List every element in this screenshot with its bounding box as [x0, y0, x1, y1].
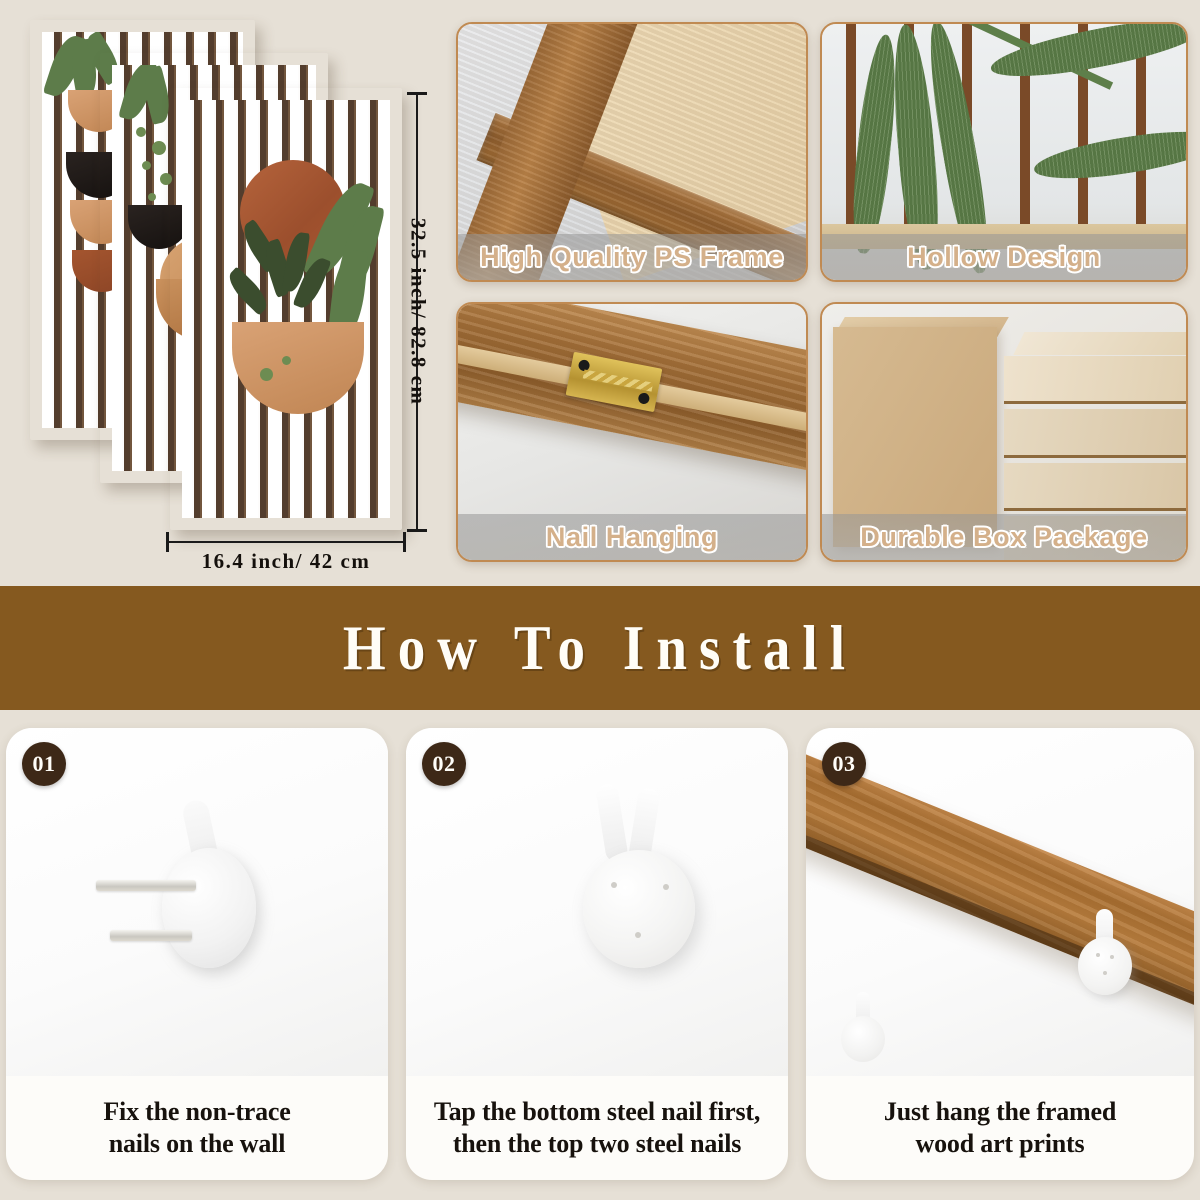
step-caption-text: Tap the bottom steel nail first,then the… [434, 1096, 760, 1159]
wall-hook [841, 992, 885, 1062]
width-dimension-line [166, 541, 406, 543]
step-caption: Tap the bottom steel nail first,then the… [406, 1076, 788, 1180]
feature-caption-bar: Hollow Design [822, 234, 1186, 280]
cardboard-box [1004, 356, 1188, 404]
hook-disc [841, 1016, 885, 1062]
box-lid [1014, 332, 1188, 355]
height-dimension-label-wrap: 32.5 inch/ 82.8 cm [405, 92, 431, 532]
framed-print-front [170, 88, 402, 530]
step-number-badge: 01 [22, 742, 66, 786]
install-step-03[interactable]: 03 Just hang the framedwo [806, 728, 1194, 1180]
feature-caption-text: Durable Box Package [860, 522, 1148, 553]
wall-hook [1078, 909, 1132, 995]
pin-hole [635, 932, 641, 938]
fern-leaf [223, 266, 273, 315]
install-step-02[interactable]: 02 Tap the bottom steel nail first,then … [406, 728, 788, 1180]
dot-shape [282, 356, 291, 365]
install-steps-section: 01 Fix the non-tracenails on the wall 02 [0, 710, 1200, 1200]
height-dimension-label: 32.5 inch/ 82.8 cm [406, 218, 431, 405]
white-nail-hook-front-icon [559, 784, 709, 1004]
feature-panel-package[interactable]: Durable Box Package [820, 302, 1188, 562]
steel-pin [110, 930, 192, 941]
step-number-badge: 03 [822, 742, 866, 786]
hook-disc [583, 850, 695, 968]
pin-hole [611, 882, 617, 888]
steel-pin [96, 880, 196, 891]
how-to-install-banner: How To Install [0, 586, 1200, 710]
feature-caption-bar: Durable Box Package [822, 514, 1186, 560]
wood-frame-on-hook-icon [806, 745, 1194, 1015]
dot-shape [152, 141, 166, 155]
feature-panel-frame[interactable]: High Quality PS Frame [456, 22, 808, 282]
dot-shape [142, 161, 151, 170]
hook-head [162, 848, 256, 968]
feature-panel-nail[interactable]: Nail Hanging [456, 302, 808, 562]
pin-hole [1103, 971, 1107, 975]
step-photo: 03 [806, 728, 1194, 1076]
cardboard-box [1004, 409, 1188, 457]
top-section: 32.5 inch/ 82.8 cm 16.4 inch/ 42 cm High… [0, 0, 1200, 586]
feature-caption-bar: High Quality PS Frame [458, 234, 806, 280]
step-number-badge: 02 [422, 742, 466, 786]
hook-disc [1078, 937, 1132, 995]
hook-pin-sleeve [595, 782, 629, 862]
feature-caption-text: Hollow Design [907, 242, 1101, 273]
width-dimension-label: 16.4 inch/ 42 cm [140, 549, 432, 574]
sand-dome [232, 322, 364, 414]
dot-shape [148, 193, 156, 201]
feature-caption-bar: Nail Hanging [458, 514, 806, 560]
feature-caption-text: Nail Hanging [546, 522, 718, 553]
abstract-art [182, 100, 390, 518]
pin-hole [663, 884, 669, 890]
pin-hole [1096, 953, 1100, 957]
step-caption: Fix the non-tracenails on the wall [6, 1076, 388, 1180]
dot-shape [136, 127, 146, 137]
step-caption-text: Fix the non-tracenails on the wall [103, 1096, 290, 1159]
banner-title: How To Install [343, 611, 857, 685]
pin-hole [1110, 955, 1114, 959]
step-photo: 02 [406, 728, 788, 1076]
feature-caption-text: High Quality PS Frame [480, 242, 784, 273]
infographic-page: 32.5 inch/ 82.8 cm 16.4 inch/ 42 cm High… [0, 0, 1200, 1200]
dot-shape [260, 368, 273, 381]
step-photo: 01 [6, 728, 388, 1076]
step-caption: Just hang the framedwood art prints [806, 1076, 1194, 1180]
step-caption-text: Just hang the framedwood art prints [884, 1096, 1116, 1159]
feature-panel-hollow[interactable]: Hollow Design [820, 22, 1188, 282]
cardboard-box [1004, 463, 1188, 511]
hero-product-image: 32.5 inch/ 82.8 cm 16.4 inch/ 42 cm [0, 0, 450, 586]
white-adhesive-nail-hook-side-icon [136, 818, 256, 968]
install-step-01[interactable]: 01 Fix the non-tracenails on the wall [6, 728, 388, 1180]
frame-inner [182, 100, 390, 518]
